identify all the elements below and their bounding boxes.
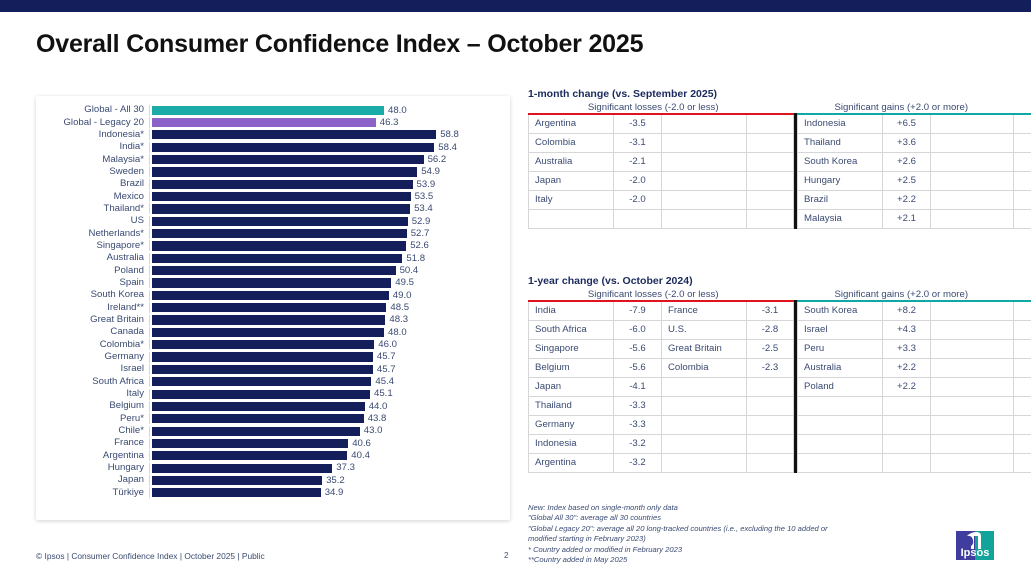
table-cell-country <box>931 435 1014 454</box>
bar-value-label: 40.6 <box>352 437 371 450</box>
bar-value-label: 37.3 <box>336 461 355 474</box>
bar-row: Israel45.7 <box>36 363 510 375</box>
bar-row: Indonesia*58.8 <box>36 129 510 141</box>
table-row: Australia-2.1 <box>529 153 794 172</box>
table-cell-country <box>798 435 883 454</box>
table-cell-country: Colombia <box>662 359 747 378</box>
bar-row: Colombia*46.0 <box>36 339 510 351</box>
bar-track: 49.0 <box>152 289 510 301</box>
bar-track: 48.5 <box>152 302 510 314</box>
table-cell-value: -3.3 <box>614 416 662 435</box>
table-cell-value: +3.6 <box>883 134 931 153</box>
bar-value-label: 53.4 <box>414 202 433 215</box>
table-cell-country <box>662 191 747 210</box>
table-row <box>529 210 794 229</box>
footnote-line: New: Index based on single-month only da… <box>528 503 868 513</box>
table-row: South Korea+2.6 <box>798 153 1031 172</box>
bar-value-label: 48.3 <box>389 313 408 326</box>
bar-fill <box>152 204 410 213</box>
bar-value-label: 50.4 <box>400 264 419 277</box>
table-row: Italy-2.0 <box>529 191 794 210</box>
table-row <box>798 435 1031 454</box>
table-cell-value: -2.5 <box>747 340 794 359</box>
table-cell-country: Thailand <box>529 397 614 416</box>
bar-category-label: Global - All 30 <box>36 104 149 116</box>
table-row: Argentina-3.5 <box>529 114 794 134</box>
bar-fill <box>152 229 407 238</box>
bar-row: Argentina40.4 <box>36 450 510 462</box>
bar-value-label: 45.7 <box>377 350 396 363</box>
table-row <box>798 454 1031 473</box>
table-cell-value <box>1014 134 1031 153</box>
table-cell-value: -3.1 <box>614 134 662 153</box>
bar-category-label: Australia <box>36 252 149 264</box>
table-cell-value <box>747 153 794 172</box>
one-year-losses-table[interactable]: India-7.9France-3.1South Africa-6.0U.S.-… <box>528 300 794 473</box>
bar-value-label: 49.5 <box>395 276 414 289</box>
table-row: South Africa-6.0U.S.-2.8 <box>529 321 794 340</box>
bar-value-label: 48.0 <box>388 326 407 339</box>
table-cell-country <box>662 435 747 454</box>
table-cell-value <box>1014 359 1031 378</box>
bar-row: France40.6 <box>36 437 510 449</box>
table-cell-value <box>883 397 931 416</box>
bar-category-label: Brazil <box>36 178 149 190</box>
table-cell-country: South Africa <box>529 321 614 340</box>
one-month-losses-header: Significant losses (-2.0 or less) <box>528 102 778 113</box>
bar-row: Chile*43.0 <box>36 425 510 437</box>
bar-row: Brazil53.9 <box>36 178 510 190</box>
bar-fill <box>152 476 322 485</box>
bar-track: 45.7 <box>152 363 510 375</box>
table-cell-value: +4.3 <box>883 321 931 340</box>
table-row: Malaysia+2.1 <box>798 210 1031 229</box>
bar-category-label: Malaysia* <box>36 154 149 166</box>
table-cell-value: -5.6 <box>614 359 662 378</box>
bar-category-label: Sweden <box>36 166 149 178</box>
bar-category-label: France <box>36 437 149 449</box>
table-cell-country: India <box>529 301 614 321</box>
table-row: Singapore-5.6Great Britain-2.5 <box>529 340 794 359</box>
bar-track: 34.9 <box>152 487 510 499</box>
bar-fill <box>152 402 365 411</box>
bar-value-label: 45.7 <box>377 363 396 376</box>
table-cell-country: Australia <box>529 153 614 172</box>
bar-category-label: South Africa <box>36 376 149 388</box>
table-cell-country <box>662 416 747 435</box>
bar-row: Japan35.2 <box>36 474 510 486</box>
bar-row: Netherlands*52.7 <box>36 227 510 239</box>
table-cell-value <box>1014 301 1031 321</box>
bar-fill <box>152 241 406 250</box>
table-cell-country <box>931 114 1014 134</box>
table-cell-country: Germany <box>529 416 614 435</box>
table-cell-country <box>662 172 747 191</box>
table-cell-country: Israel <box>798 321 883 340</box>
table-row: Poland+2.2 <box>798 378 1031 397</box>
bar-fill <box>152 192 411 201</box>
bar-track: 53.4 <box>152 203 510 215</box>
table-cell-value: -4.1 <box>614 378 662 397</box>
table-row: Australia+2.2 <box>798 359 1031 378</box>
table-cell-value <box>747 114 794 134</box>
table-cell-value: -7.9 <box>614 301 662 321</box>
bar-track: 48.0 <box>152 326 510 338</box>
bar-track: 50.4 <box>152 264 510 276</box>
table-cell-country <box>931 321 1014 340</box>
bar-track: 40.4 <box>152 450 510 462</box>
table-row: South Korea+8.2 <box>798 301 1031 321</box>
table-cell-country: Brazil <box>798 191 883 210</box>
bar-row: Germany45.7 <box>36 351 510 363</box>
table-cell-country <box>931 359 1014 378</box>
table-row: Japan-2.0 <box>529 172 794 191</box>
bar-value-label: 51.8 <box>406 252 425 265</box>
bar-fill <box>152 464 332 473</box>
bar-value-label: 52.6 <box>410 239 429 252</box>
bar-value-label: 58.8 <box>440 128 459 141</box>
bar-category-label: Colombia* <box>36 339 149 351</box>
table-cell-value: -2.1 <box>614 153 662 172</box>
bar-track: 58.4 <box>152 141 510 153</box>
bar-row: Great Britain48.3 <box>36 314 510 326</box>
table-cell-value <box>1014 321 1031 340</box>
svg-text:Ipsos: Ipsos <box>961 547 990 559</box>
footnote-line: * Country added or modified in February … <box>528 545 868 555</box>
bar-category-label: Poland <box>36 265 149 277</box>
table-cell-country: Indonesia <box>529 435 614 454</box>
table-cell-country: Argentina <box>529 114 614 134</box>
bar-row: Poland50.4 <box>36 264 510 276</box>
table-cell-value <box>747 172 794 191</box>
one-month-change-title: 1-month change (vs. September 2025) <box>528 88 1024 100</box>
bar-row: Thailand*53.4 <box>36 203 510 215</box>
bar-track: 49.5 <box>152 277 510 289</box>
table-cell-country <box>662 153 747 172</box>
bar-category-label: Mexico <box>36 191 149 203</box>
footnote-line: "Global Legacy 20": average all 20 long-… <box>528 524 868 534</box>
bar-row: Peru*43.8 <box>36 413 510 425</box>
table-cell-country <box>931 454 1014 473</box>
bar-track: 45.4 <box>152 376 510 388</box>
bar-value-label: 54.9 <box>421 165 440 178</box>
table-cell-country: France <box>662 301 747 321</box>
bar-category-label: Netherlands* <box>36 228 149 240</box>
bar-track: 46.3 <box>152 116 510 128</box>
bar-value-label: 56.2 <box>428 153 447 166</box>
table-cell-country <box>931 191 1014 210</box>
bar-row: Australia51.8 <box>36 252 510 264</box>
table-row: Indonesia+6.5 <box>798 114 1031 134</box>
bar-row: Italy45.1 <box>36 388 510 400</box>
bar-value-label: 45.1 <box>374 387 393 400</box>
table-cell-country <box>931 378 1014 397</box>
bar-category-label: Thailand* <box>36 203 149 215</box>
table-cell-value: -3.3 <box>614 397 662 416</box>
bar-value-label: 40.4 <box>351 449 370 462</box>
bar-track: 52.7 <box>152 227 510 239</box>
bar-track: 35.2 <box>152 474 510 486</box>
bar-category-label: Israel <box>36 363 149 375</box>
table-cell-value: -2.0 <box>614 172 662 191</box>
table-cell-value <box>1014 172 1031 191</box>
bar-fill <box>152 278 391 287</box>
bar-category-label: Spain <box>36 277 149 289</box>
bar-fill <box>152 488 321 497</box>
bar-category-label: Indonesia* <box>36 129 149 141</box>
bar-fill <box>152 167 417 176</box>
table-cell-country: Argentina <box>529 454 614 473</box>
bar-value-label: 35.2 <box>326 474 345 487</box>
page-title: Overall Consumer Confidence Index – Octo… <box>36 30 643 59</box>
bar-fill <box>152 291 389 300</box>
bar-value-label: 52.9 <box>412 215 431 228</box>
bar-track: 52.6 <box>152 240 510 252</box>
bar-fill <box>152 390 370 399</box>
footnotes: New: Index based on single-month only da… <box>528 503 868 565</box>
bar-track: 45.1 <box>152 388 510 400</box>
table-row: Israel+4.3 <box>798 321 1031 340</box>
bar-fill <box>152 414 364 423</box>
table-row: Argentina-3.2 <box>529 454 794 473</box>
table-cell-country: Thailand <box>798 134 883 153</box>
table-cell-value <box>1014 454 1031 473</box>
bar-category-label: India* <box>36 141 149 153</box>
table-cell-country <box>662 397 747 416</box>
table-row: India-7.9France-3.1 <box>529 301 794 321</box>
bar-value-label: 49.0 <box>393 289 412 302</box>
one-year-change-block: 1-year change (vs. October 2024) Signifi… <box>528 275 1024 473</box>
bar-track: 45.7 <box>152 351 510 363</box>
bar-track: 48.0 <box>152 104 510 116</box>
bar-row: Singapore*52.6 <box>36 240 510 252</box>
table-cell-value: +2.2 <box>883 191 931 210</box>
page-number: 2 <box>504 551 508 560</box>
consumer-confidence-bar-chart-panel: Global - All 3048.0Global - Legacy 2046.… <box>36 96 510 520</box>
table-cell-country: Hungary <box>798 172 883 191</box>
one-month-losses-table[interactable]: Argentina-3.5Colombia-3.1Australia-2.1Ja… <box>528 113 794 229</box>
table-cell-country: Malaysia <box>798 210 883 229</box>
table-cell-value <box>747 454 794 473</box>
table-cell-value: +8.2 <box>883 301 931 321</box>
table-cell-country <box>662 114 747 134</box>
bar-row: Hungary37.3 <box>36 462 510 474</box>
table-row: Germany-3.3 <box>529 416 794 435</box>
bar-row: Spain49.5 <box>36 277 510 289</box>
table-cell-value <box>883 416 931 435</box>
bar-fill <box>152 106 384 115</box>
bar-row: Mexico53.5 <box>36 190 510 202</box>
bar-value-label: 34.9 <box>325 486 344 499</box>
table-row <box>798 397 1031 416</box>
table-cell-value: -3.2 <box>614 435 662 454</box>
bar-fill <box>152 303 386 312</box>
table-cell-country <box>931 172 1014 191</box>
bar-category-label: Ireland** <box>36 302 149 314</box>
table-cell-value: -2.0 <box>614 191 662 210</box>
table-cell-country <box>662 210 747 229</box>
table-cell-value <box>1014 416 1031 435</box>
table-cell-value <box>1014 397 1031 416</box>
bar-value-label: 46.0 <box>378 338 397 351</box>
bar-category-label: Argentina <box>36 450 149 462</box>
bar-track: 53.5 <box>152 190 510 202</box>
table-row: Brazil+2.2 <box>798 191 1031 210</box>
table-cell-country <box>798 416 883 435</box>
table-cell-value <box>1014 435 1031 454</box>
table-cell-value: -2.3 <box>747 359 794 378</box>
table-cell-value: +2.6 <box>883 153 931 172</box>
bar-track: 51.8 <box>152 252 510 264</box>
bar-track: 56.2 <box>152 153 510 165</box>
top-accent-bar <box>0 0 1031 12</box>
bar-value-label: 43.0 <box>364 424 383 437</box>
bar-fill <box>152 118 376 127</box>
bar-track: 48.3 <box>152 314 510 326</box>
table-cell-value <box>1014 153 1031 172</box>
table-cell-value: -5.6 <box>614 340 662 359</box>
bar-track: 53.9 <box>152 178 510 190</box>
bar-category-label: Global - Legacy 20 <box>36 117 149 129</box>
one-year-gains-table[interactable]: South Korea+8.2Israel+4.3Peru+3.3Austral… <box>797 300 1031 473</box>
bar-category-label: Germany <box>36 351 149 363</box>
table-cell-value: +6.5 <box>883 114 931 134</box>
bar-track: 44.0 <box>152 400 510 412</box>
bar-track: 40.6 <box>152 437 510 449</box>
table-cell-value <box>747 134 794 153</box>
table-cell-country: Italy <box>529 191 614 210</box>
table-cell-country: Singapore <box>529 340 614 359</box>
bar-value-label: 44.0 <box>369 400 388 413</box>
table-cell-country <box>529 210 614 229</box>
bar-value-label: 45.4 <box>375 375 394 388</box>
bar-category-label: Singapore* <box>36 240 149 252</box>
table-cell-country <box>931 340 1014 359</box>
table-row: Belgium-5.6Colombia-2.3 <box>529 359 794 378</box>
table-cell-value <box>747 435 794 454</box>
bar-value-label: 46.3 <box>380 116 399 129</box>
one-month-gains-header: Significant gains (+2.0 or more) <box>778 102 1024 113</box>
bar-track: 58.8 <box>152 129 510 141</box>
table-cell-value: +2.2 <box>883 359 931 378</box>
bar-value-label: 43.8 <box>368 412 387 425</box>
table-cell-value: -3.5 <box>614 114 662 134</box>
one-month-gains-table[interactable]: Indonesia+6.5Thailand+3.6South Korea+2.6… <box>797 113 1031 229</box>
table-cell-value: +2.2 <box>883 378 931 397</box>
bar-fill <box>152 365 373 374</box>
table-row: Peru+3.3 <box>798 340 1031 359</box>
bar-fill <box>152 427 360 436</box>
table-cell-country <box>662 378 747 397</box>
table-cell-value <box>747 416 794 435</box>
bar-category-label: Canada <box>36 326 149 338</box>
bar-category-label: Great Britain <box>36 314 149 326</box>
table-cell-value <box>614 210 662 229</box>
one-year-losses-header: Significant losses (-2.0 or less) <box>528 289 778 300</box>
table-cell-country <box>931 397 1014 416</box>
table-cell-country: Indonesia <box>798 114 883 134</box>
table-cell-value: -3.2 <box>614 454 662 473</box>
bar-row: Ireland**48.5 <box>36 302 510 314</box>
table-cell-country: Colombia <box>529 134 614 153</box>
one-year-change-title: 1-year change (vs. October 2024) <box>528 275 1024 287</box>
table-cell-value: +2.1 <box>883 210 931 229</box>
table-row: Indonesia-3.2 <box>529 435 794 454</box>
bar-value-label: 53.9 <box>417 178 436 191</box>
table-row: Colombia-3.1 <box>529 134 794 153</box>
table-row: Thailand-3.3 <box>529 397 794 416</box>
bar-chart: Global - All 3048.0Global - Legacy 2046.… <box>36 104 510 514</box>
bar-category-label: South Korea <box>36 289 149 301</box>
bar-category-label: Japan <box>36 474 149 486</box>
one-year-gains-header: Significant gains (+2.0 or more) <box>778 289 1024 300</box>
table-cell-country: South Korea <box>798 301 883 321</box>
table-cell-country <box>931 153 1014 172</box>
bar-row: Global - All 3048.0 <box>36 104 510 116</box>
bar-row: Malaysia*56.2 <box>36 153 510 165</box>
table-cell-value <box>747 191 794 210</box>
bar-row: Sweden54.9 <box>36 166 510 178</box>
table-cell-value <box>1014 340 1031 359</box>
source-line: © Ipsos | Consumer Confidence Index | Oc… <box>36 551 265 561</box>
bar-fill <box>152 340 374 349</box>
bar-value-label: 48.5 <box>390 301 409 314</box>
bar-fill <box>152 328 384 337</box>
table-cell-country <box>931 416 1014 435</box>
table-cell-value <box>747 378 794 397</box>
table-cell-country: Peru <box>798 340 883 359</box>
table-cell-value <box>1014 191 1031 210</box>
table-cell-value: -2.8 <box>747 321 794 340</box>
table-row <box>798 416 1031 435</box>
bar-fill <box>152 130 436 139</box>
table-cell-country: Poland <box>798 378 883 397</box>
bar-row: South Korea49.0 <box>36 289 510 301</box>
table-cell-value <box>883 435 931 454</box>
table-cell-country: Great Britain <box>662 340 747 359</box>
table-cell-country: South Korea <box>798 153 883 172</box>
bar-fill <box>152 451 347 460</box>
table-cell-country: U.S. <box>662 321 747 340</box>
table-cell-country <box>662 454 747 473</box>
bar-category-label: Belgium <box>36 400 149 412</box>
table-cell-value: +2.5 <box>883 172 931 191</box>
bar-fill <box>152 377 371 386</box>
bar-value-label: 53.5 <box>415 190 434 203</box>
table-cell-country <box>931 210 1014 229</box>
bar-value-label: 48.0 <box>388 104 407 117</box>
bar-row: US52.9 <box>36 215 510 227</box>
bar-track: 52.9 <box>152 215 510 227</box>
bar-category-label: US <box>36 215 149 227</box>
table-cell-country <box>798 397 883 416</box>
bar-category-label: Peru* <box>36 413 149 425</box>
bar-track: 43.0 <box>152 425 510 437</box>
bar-row: Türkiye34.9 <box>36 487 510 499</box>
bar-fill <box>152 254 402 263</box>
table-cell-country: Japan <box>529 172 614 191</box>
bar-row: South Africa45.4 <box>36 376 510 388</box>
bar-category-label: Italy <box>36 388 149 400</box>
bar-track: 46.0 <box>152 339 510 351</box>
bar-fill <box>152 352 373 361</box>
bar-fill <box>152 143 434 152</box>
table-cell-country <box>931 134 1014 153</box>
table-cell-country: Australia <box>798 359 883 378</box>
table-cell-value <box>747 210 794 229</box>
bar-fill <box>152 155 424 164</box>
bar-fill <box>152 217 408 226</box>
